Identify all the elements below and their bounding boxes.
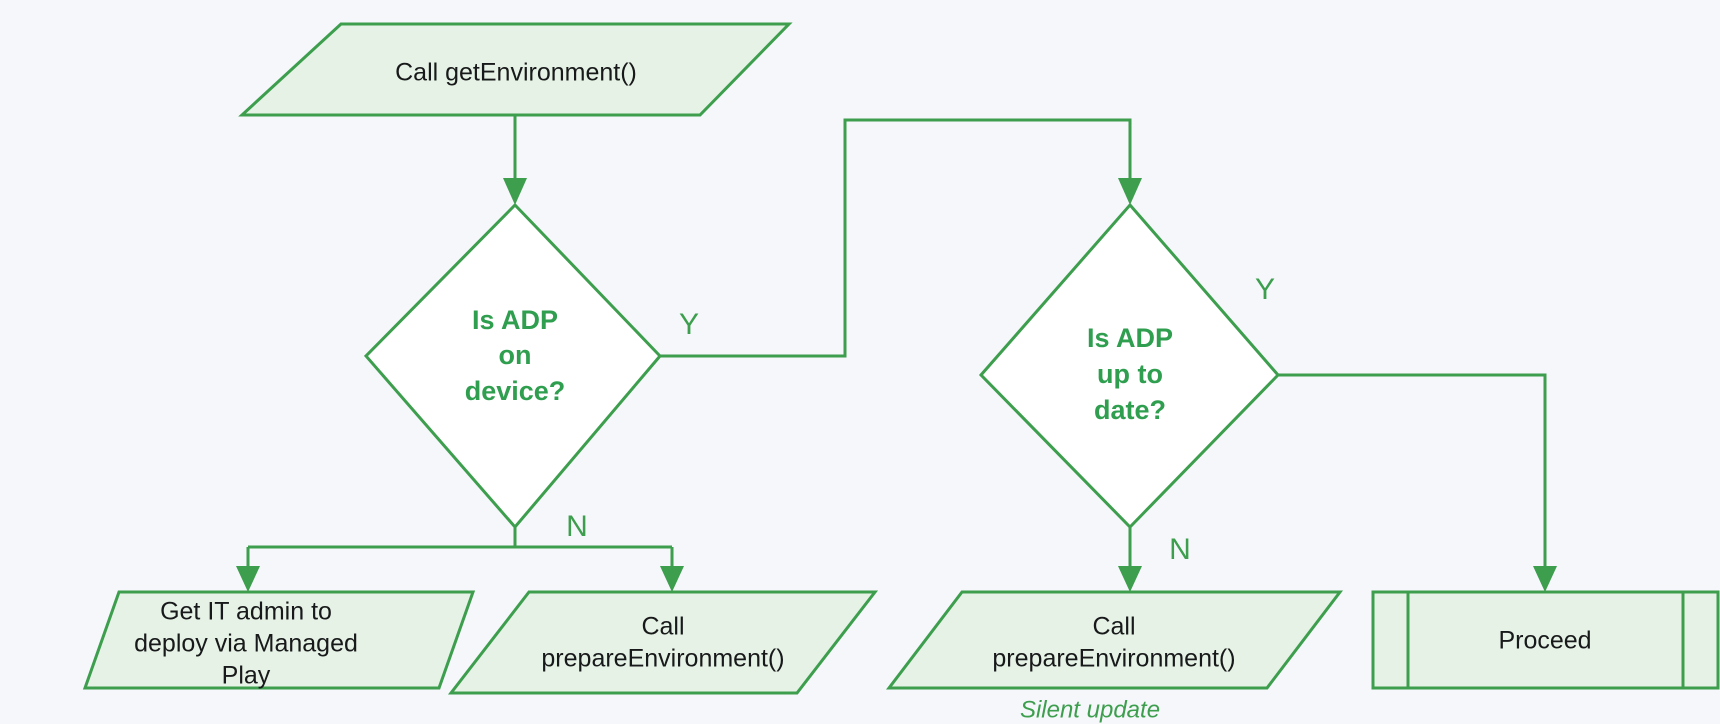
node-decision-is-adp-on-device[interactable]: Is ADP on device?	[366, 205, 660, 527]
edge-start-to-device-decision	[503, 115, 527, 205]
node-decision-is-adp-on-device-line3: device?	[465, 376, 566, 406]
node-call-prepare-environment-left[interactable]: Call prepareEnvironment()	[451, 592, 875, 693]
edge-device-no-to-prepare-env-left	[660, 547, 684, 592]
edge-label-uptodate-yes: Y	[1255, 273, 1275, 306]
node-decision-is-adp-up-to-date-line1: Is ADP	[1087, 323, 1173, 353]
node-get-it-admin-deploy[interactable]: Get IT admin to deploy via Managed Play	[85, 592, 473, 690]
node-proceed[interactable]: Proceed	[1373, 592, 1718, 688]
node-decision-is-adp-on-device-line1: Is ADP	[472, 305, 558, 335]
node-decision-is-adp-up-to-date-line2: up to	[1097, 359, 1163, 389]
edge-label-uptodate-no: N	[1169, 533, 1191, 566]
node-call-prepare-environment-left-line1: Call	[641, 613, 684, 641]
node-call-prepare-environment-right-line1: Call	[1092, 613, 1135, 641]
node-decision-is-adp-on-device-line2: on	[499, 340, 532, 370]
node-decision-is-adp-up-to-date-line3: date?	[1094, 395, 1166, 425]
edge-label-device-yes: Y	[679, 308, 699, 341]
caption-silent-update: Silent update	[1020, 696, 1160, 723]
node-proceed-label: Proceed	[1498, 627, 1591, 655]
edge-uptodate-yes-to-proceed	[1278, 375, 1557, 592]
flowchart-canvas: Call getEnvironment() Is ADP on device? …	[0, 0, 1720, 724]
node-get-it-admin-deploy-line3: Play	[222, 662, 271, 690]
edge-device-no-to-get-it-admin	[236, 547, 260, 592]
flowchart-svg: Call getEnvironment() Is ADP on device? …	[0, 0, 1720, 724]
edge-label-device-no: N	[566, 510, 588, 543]
node-get-it-admin-deploy-line2: deploy via Managed	[134, 630, 358, 658]
node-call-get-environment-label: Call getEnvironment()	[395, 59, 637, 87]
edge-uptodate-no-to-prepare-env-right	[1118, 527, 1142, 592]
node-call-prepare-environment-right[interactable]: Call prepareEnvironment()	[889, 592, 1340, 688]
node-get-it-admin-deploy-line1: Get IT admin to	[160, 598, 332, 626]
node-call-prepare-environment-left-line2: prepareEnvironment()	[541, 645, 784, 673]
node-call-prepare-environment-right-line2: prepareEnvironment()	[992, 645, 1235, 673]
node-call-get-environment[interactable]: Call getEnvironment()	[242, 24, 789, 115]
node-decision-is-adp-up-to-date[interactable]: Is ADP up to date?	[981, 205, 1278, 527]
edge-device-no-bus	[248, 527, 672, 547]
